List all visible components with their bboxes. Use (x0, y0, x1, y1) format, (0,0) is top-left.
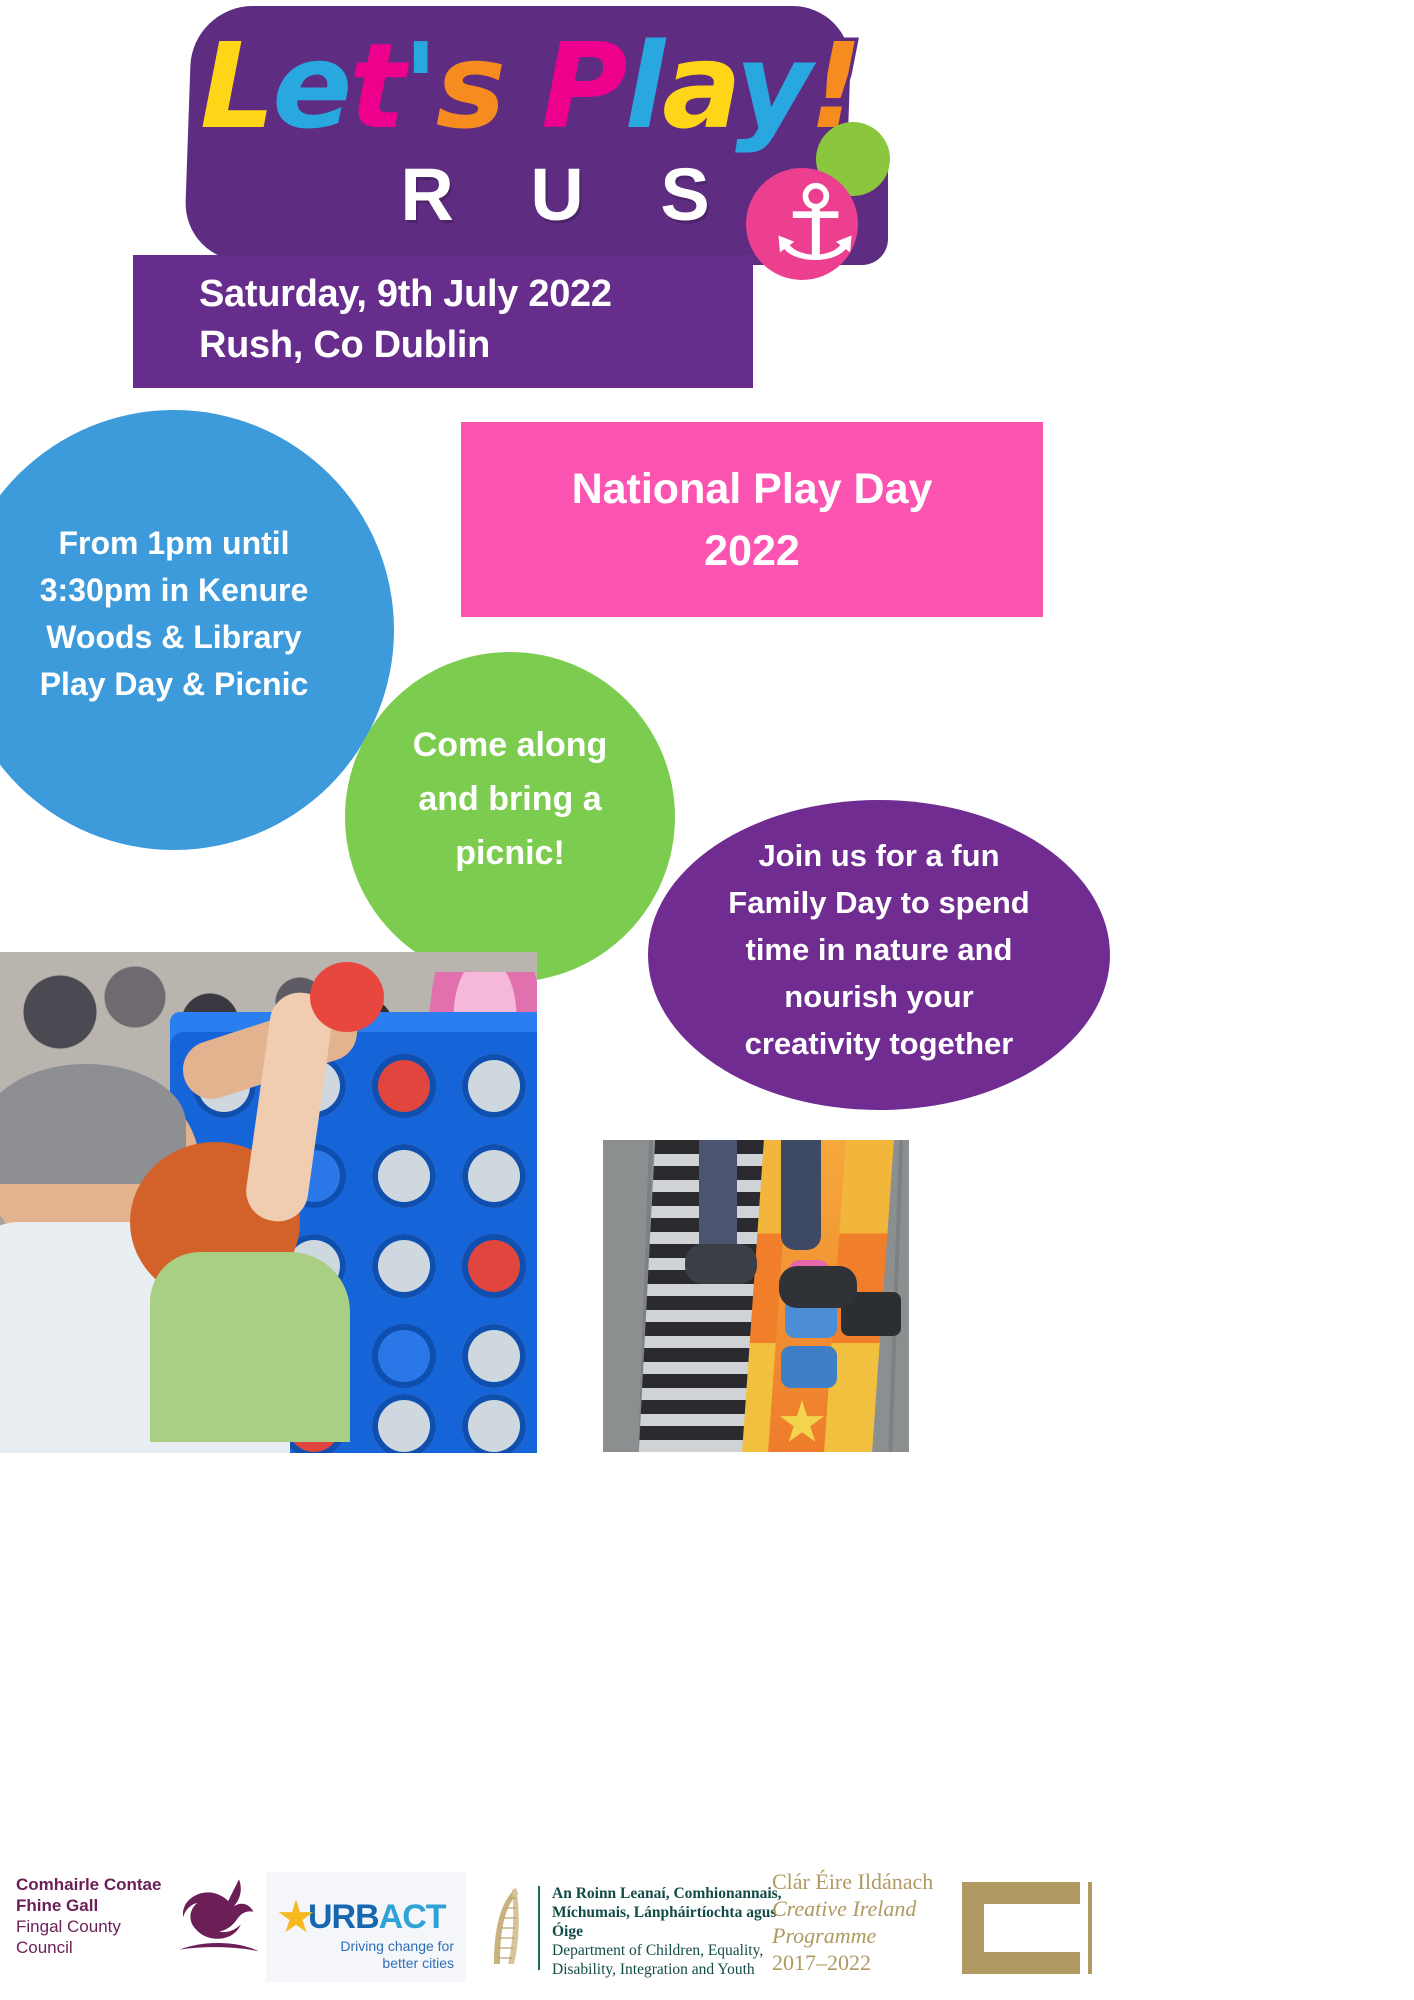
photo2-shoe-right (779, 1266, 857, 1308)
picnic-line-1: Come along (373, 718, 647, 772)
logo-letter-a: a (662, 17, 735, 155)
photo-floor-game (603, 1140, 909, 1452)
picnic-line-2: and bring a (373, 772, 647, 826)
national-play-day-text: National Play Day 2022 (544, 458, 961, 582)
logo-letter-s: s (436, 17, 503, 155)
creative-ireland-mark (962, 1878, 1092, 1978)
harp-icon (486, 1884, 526, 1970)
eagle-icon (176, 1874, 266, 1964)
urbact-tagline-line-1: Driving change for (340, 1938, 454, 1955)
family-day-line-2: Family Day to spend (690, 879, 1068, 926)
urbact-name-row: URBACT (278, 1898, 468, 1937)
date-location-banner: Saturday, 9th July 2022 Rush, Co Dublin (133, 255, 753, 388)
urbact-name-part-1: URB (308, 1898, 379, 1936)
department-english-line-1: Department of Children, Equality, (552, 1941, 782, 1960)
urbact-tagline-line-2: better cities (340, 1955, 454, 1972)
family-day-line-1: Join us for a fun (690, 832, 1068, 879)
logo-letter-l: l (625, 17, 662, 155)
event-location: Rush, Co Dublin (199, 320, 753, 371)
time-venue-line-2: 3:30pm in Kenure (0, 567, 370, 614)
photo2-leg-right (781, 1140, 821, 1250)
picnic-text: Come along and bring a picnic! (345, 718, 675, 918)
time-venue-line-1: From 1pm until (0, 520, 370, 567)
department-english-line-2: Disability, Integration and Youth (552, 1960, 782, 1979)
play-day-line-1: National Play Day (572, 458, 933, 520)
play-day-line-2: 2022 (572, 520, 933, 582)
logo-letter-t: t (349, 17, 402, 155)
national-play-day-box: National Play Day 2022 (461, 422, 1043, 617)
event-date: Saturday, 9th July 2022 (199, 269, 753, 320)
time-venue-text: From 1pm until 3:30pm in Kenure Woods & … (0, 520, 394, 740)
urbact-wordmark: URBACT (308, 1898, 446, 1937)
poster-canvas: Let's Play! R U S H ⚓ Saturday, 9th July… (0, 0, 1414, 2000)
department-text: An Roinn Leanaí, Comhionannais, Míchumai… (552, 1884, 782, 1979)
department-divider (538, 1886, 540, 1970)
logo-letter-apostrophe: ' (403, 17, 436, 155)
urbact-logo: URBACT Driving change for better cities (266, 1872, 466, 1982)
footer-logo-strip: Comhairle Contae Fhine Gall Fingal Count… (0, 1860, 1414, 2000)
anchor-icon: ⚓ (756, 162, 874, 284)
photo2-blue-tile-2 (781, 1346, 837, 1388)
anchor-badge: ⚓ (738, 110, 898, 295)
urbact-name-part-2: ACT (379, 1898, 446, 1936)
photo1-child-shirt (150, 1252, 350, 1442)
logo-letter-P: P (541, 17, 624, 155)
time-venue-line-3: Woods & Library (0, 614, 370, 661)
department-irish-line-2: Míchumais, Lánpháirtíochta agus Óige (552, 1903, 782, 1941)
logo-letter-L: L (200, 17, 272, 155)
family-day-text: Join us for a fun Family Day to spend ti… (648, 832, 1110, 1082)
photo2-shoe-left (685, 1244, 757, 1284)
photo-connect-four (0, 952, 537, 1453)
family-day-line-3: time in nature and (690, 926, 1068, 973)
logo-letter-e: e (272, 17, 349, 155)
urbact-tagline: Driving change for better cities (340, 1938, 454, 1972)
department-irish-line-1: An Roinn Leanaí, Comhionannais, (552, 1884, 782, 1903)
family-day-line-4: nourish your (690, 973, 1068, 1020)
picnic-line-3: picnic! (373, 826, 647, 880)
photo1-red-counter (310, 962, 384, 1032)
time-venue-line-4: Play Day & Picnic (0, 661, 370, 708)
family-day-line-5: creativity together (690, 1020, 1068, 1067)
photo2-leg-left (699, 1140, 737, 1258)
